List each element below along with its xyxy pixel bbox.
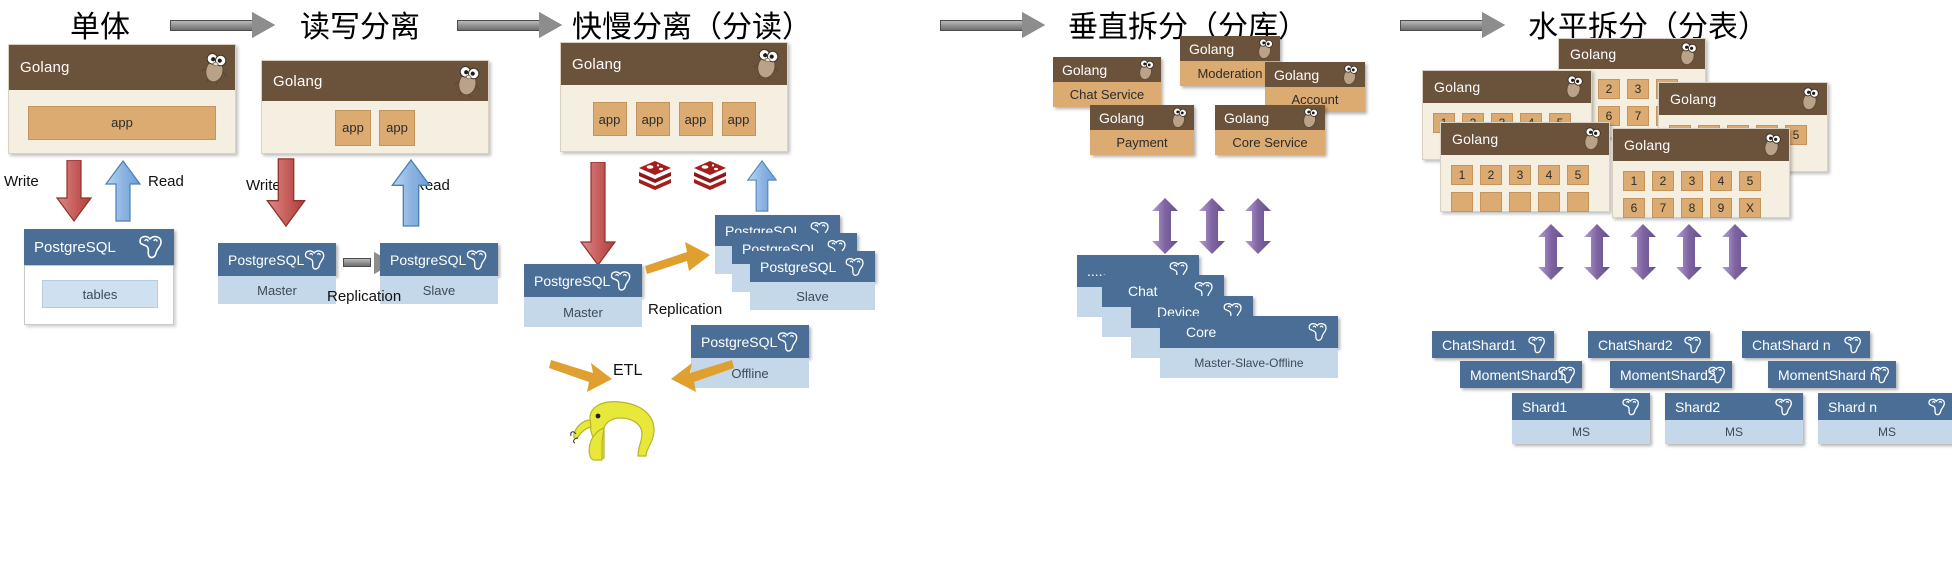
golang-label: Golang [9, 59, 70, 76]
postgres-label: PostgreSQL [218, 252, 304, 268]
postgres-elephant-icon [608, 269, 634, 292]
gopher-icon [199, 49, 231, 86]
shard-tile: X [1739, 198, 1761, 218]
write-arrow-fs [578, 162, 618, 266]
golang-card-header: Golang [1423, 71, 1591, 103]
gopher-icon [1254, 36, 1276, 61]
gopher-icon [452, 63, 484, 100]
postgres-card-monolith: PostgreSQL [24, 229, 174, 265]
vertical-double-arrow [1674, 224, 1704, 280]
write-arrow-monolith [54, 160, 94, 222]
shard-tile: 1 [1451, 165, 1473, 185]
read-label-monolith: Read [148, 173, 184, 190]
arrow-shaft [170, 20, 253, 31]
golang-card-header: Golang [262, 61, 488, 101]
service-card-header: Golang [1090, 105, 1194, 130]
shard-tile: 8 [1681, 198, 1703, 218]
postgres-elephant-icon [775, 330, 801, 353]
vertical-double-arrow [1582, 224, 1612, 280]
shard-card-momentshard-n: MomentShard n [1768, 361, 1896, 388]
hadoop-elephant-icon [568, 390, 664, 470]
golang-label: Golang [1559, 46, 1616, 62]
postgres-elephant-icon [136, 234, 166, 260]
shard-tile: 7 [1627, 106, 1649, 126]
golang-label: Golang [1224, 110, 1269, 126]
shard-title: Shard2 [1675, 399, 1720, 415]
postgres-elephant-icon [1620, 397, 1642, 416]
gopher-icon [1168, 105, 1190, 130]
db-label: Core [1160, 324, 1216, 340]
golang-label: Golang [1274, 67, 1319, 83]
shard-card-header: Shard2 [1665, 393, 1803, 420]
vertical-double-arrow [1243, 198, 1273, 254]
postgres-elephant-icon [302, 248, 328, 271]
app-tile: app [379, 110, 415, 146]
db-footer-label: Master-Slave-Offline [1160, 348, 1338, 378]
service-card-core: Golang Core Service [1215, 105, 1325, 155]
postgres-label: PostgreSQL [380, 252, 466, 268]
golang-app-card-fs: Golang app app app app [560, 42, 788, 152]
postgres-card-header: PostgreSQL [691, 325, 809, 358]
shard-tile: 4 [1710, 171, 1732, 191]
shard-tile: 1 [1623, 171, 1645, 191]
arrow-head [1022, 12, 1045, 38]
app-tile: app [722, 102, 756, 136]
postgres-card-header: PostgreSQL [24, 229, 174, 265]
replication-arrow-fs [645, 240, 711, 276]
golang-label: Golang [561, 56, 622, 73]
postgres-label: PostgreSQL [24, 239, 116, 256]
golang-app-card-monolith: Golang app [8, 44, 236, 154]
service-card-chat: Golang Chat Service [1053, 57, 1161, 107]
shard-card-header: MomentShard1 [1460, 361, 1582, 388]
tables-tile: tables [42, 280, 158, 308]
shard-tile: 4 [1538, 165, 1560, 185]
shard-tile: 5 [1567, 165, 1589, 185]
golang-card-body: app [9, 90, 235, 155]
postgres-elephant-icon [1773, 397, 1795, 416]
golang-card-header: Golang [1659, 83, 1827, 115]
shard-card-header: ChatShard n [1742, 331, 1870, 358]
shard-title: Shard1 [1522, 399, 1567, 415]
golang-label: Golang [262, 73, 323, 90]
arrow-head [1482, 12, 1505, 38]
postgres-label: PostgreSQL [691, 334, 777, 350]
golang-card-header: Golang [1559, 39, 1705, 69]
arrow-head [539, 12, 562, 38]
shard-footer: MS [1818, 420, 1952, 444]
shard-tile: 2 [1598, 79, 1620, 99]
gopher-icon [1580, 125, 1605, 154]
shard-tile: 5 [1739, 171, 1761, 191]
postgres-role-label: Slave [750, 282, 875, 310]
gopher-icon [1339, 62, 1361, 87]
postgres-offline-card-fs: PostgreSQL Offline [691, 325, 809, 358]
golang-label: Golang [1441, 131, 1498, 147]
architecture-evolution-diagram: 单体 读写分离 快慢分离（分读） 垂直拆分（分库） 水平拆分（分表） Golan… [0, 0, 1952, 562]
column-title-fast-slow-split: 快慢分离（分读） [572, 2, 812, 46]
postgres-card-header: PostgreSQL [218, 243, 336, 276]
gopher-icon [1760, 131, 1785, 160]
arrow-shaft [343, 258, 371, 267]
shard-card-chatshard-n: ChatShard n [1742, 331, 1870, 358]
golang-card-header: Golang [1613, 129, 1789, 161]
postgres-elephant-icon [464, 248, 490, 271]
app-tile: app [593, 102, 627, 136]
read-arrow-monolith [103, 160, 143, 222]
column-title-read-write-split: 读写分离 [300, 2, 420, 46]
shard-title: ChatShard n [1752, 337, 1831, 353]
golang-card-body: app app [262, 101, 488, 154]
read-arrow-rw [389, 158, 433, 228]
postgres-label: PostgreSQL [524, 273, 610, 289]
shard-tile: 2 [1480, 165, 1502, 185]
service-name: Chat Service [1053, 82, 1161, 107]
vertical-double-arrow [1197, 198, 1227, 254]
postgres-card-header: Core [1160, 316, 1338, 348]
shard-tile [1538, 192, 1560, 212]
flow-arrow-1 [170, 12, 275, 38]
db-card-core: Core Master-Slave-Offline [1160, 316, 1338, 348]
shard-tile: 7 [1652, 198, 1674, 218]
shard-tile: 6 [1623, 198, 1645, 218]
flow-arrow-2 [457, 12, 562, 38]
shard-app-card-5: Golang 1 2 3 4 5 6 7 8 9 X [1612, 128, 1790, 218]
arrow-head [252, 12, 275, 38]
shard-tile [1480, 192, 1502, 212]
shard-card-shard2: Shard2 MS [1665, 393, 1803, 444]
golang-card-header: Golang [9, 45, 235, 90]
service-card-header: Golang [1180, 36, 1280, 61]
gopher-icon [1676, 40, 1701, 69]
shard-tile [1567, 192, 1589, 212]
golang-label: Golang [1189, 41, 1234, 57]
shard-tile-grid: 1 2 3 4 5 [1451, 165, 1601, 212]
postgres-elephant-icon [843, 256, 867, 277]
app-tile: app [636, 102, 670, 136]
arrow-shaft [1400, 20, 1483, 31]
postgres-card-header: PostgreSQL [750, 251, 875, 282]
postgres-elephant-icon [1842, 335, 1864, 354]
shard-card-momentshard2: MomentShard2 [1610, 361, 1732, 388]
shard-card-header: Shard1 [1512, 393, 1650, 420]
postgres-slave-card-rw: PostgreSQL Slave [380, 243, 498, 276]
golang-app-card-rw: Golang app app [261, 60, 489, 154]
etl-arrow-right [668, 360, 734, 400]
postgres-label: PostgreSQL [750, 259, 836, 275]
golang-card-header: Golang [1441, 123, 1609, 155]
shard-tile: 2 [1652, 171, 1674, 191]
vertical-double-arrow [1536, 224, 1566, 280]
postgres-elephant-icon [1682, 335, 1704, 354]
service-name: Payment [1090, 130, 1194, 155]
shard-title: MomentShard1 [1470, 367, 1566, 383]
service-card-header: Golang [1265, 62, 1365, 87]
shard-card-momentshard1: MomentShard1 [1460, 361, 1582, 388]
shard-card-header: MomentShard n [1768, 361, 1896, 388]
app-tile: app [28, 106, 216, 140]
postgres-elephant-icon [1306, 322, 1330, 343]
golang-label: Golang [1659, 91, 1716, 107]
app-tile: app [335, 110, 371, 146]
golang-label: Golang [1423, 79, 1480, 95]
postgres-elephant-icon [1870, 365, 1892, 384]
replication-label-rw: Replication [327, 288, 401, 305]
golang-label: Golang [1099, 110, 1144, 126]
shard-app-card-3: Golang 1 2 3 4 5 [1440, 122, 1610, 212]
etl-label: ETL [613, 362, 642, 380]
shard-card-shard1: Shard1 MS [1512, 393, 1650, 444]
postgres-card-header: PostgreSQL [524, 264, 642, 297]
shard-title: ChatShard1 [1442, 337, 1517, 353]
shard-card-header: ChatShard2 [1588, 331, 1710, 358]
gopher-icon [1135, 57, 1157, 82]
postgres-elephant-icon [1526, 335, 1548, 354]
vertical-double-arrow [1720, 224, 1750, 280]
shard-title: Shard n [1828, 399, 1877, 415]
golang-label: Golang [1613, 137, 1670, 153]
shard-card-chatshard2: ChatShard2 [1588, 331, 1710, 358]
postgres-master-card-rw: PostgreSQL Master [218, 243, 336, 276]
golang-card-body: app app app app [561, 85, 787, 153]
shard-card-header: MomentShard2 [1610, 361, 1732, 388]
postgres-card-body-monolith: tables [24, 265, 174, 325]
arrow-shaft [457, 20, 540, 31]
postgres-elephant-icon [1556, 365, 1578, 384]
shard-title: MomentShard2 [1620, 367, 1716, 383]
flow-arrow-3 [940, 12, 1045, 38]
shard-card-header: Shard n [1818, 393, 1952, 420]
redis-icon [638, 160, 672, 190]
shard-card-header: ChatShard1 [1432, 331, 1554, 358]
service-card-header: Golang [1215, 105, 1325, 130]
gopher-icon [1798, 85, 1823, 114]
write-arrow-rw [264, 158, 308, 228]
flow-arrow-4 [1400, 12, 1505, 38]
postgres-elephant-icon [1706, 365, 1728, 384]
arrow-shaft [940, 20, 1023, 31]
shard-tile: 3 [1509, 165, 1531, 185]
write-label-monolith: Write [4, 173, 39, 190]
shard-tile [1451, 192, 1473, 212]
postgres-elephant-icon [1926, 397, 1948, 416]
gopher-icon [751, 46, 783, 83]
postgres-slave-card-stack-1: PostgreSQL Slave [750, 251, 875, 282]
shard-card-shard-n: Shard n MS [1818, 393, 1952, 444]
golang-label: Golang [1062, 62, 1107, 78]
column-title-monolith: 单体 [70, 2, 130, 46]
shard-tile [1509, 192, 1531, 212]
vertical-double-arrow [1150, 198, 1180, 254]
shard-tile: 3 [1681, 171, 1703, 191]
service-name: Core Service [1215, 130, 1325, 155]
shard-title: ChatShard2 [1598, 337, 1673, 353]
postgres-card-header: PostgreSQL [380, 243, 498, 276]
replication-label-fs: Replication [648, 301, 722, 318]
shard-title: MomentShard n [1778, 367, 1878, 383]
postgres-role-label: Master [524, 297, 642, 327]
service-card-header: Golang [1053, 57, 1161, 82]
postgres-role-label: Master [218, 276, 336, 304]
gopher-icon [1299, 105, 1321, 130]
vertical-double-arrow [1628, 224, 1658, 280]
shard-card-chatshard1: ChatShard1 [1432, 331, 1554, 358]
shard-footer: MS [1665, 420, 1803, 444]
golang-card-header: Golang [561, 43, 787, 85]
shard-tile-grid: 1 2 3 4 5 6 7 8 9 X [1623, 171, 1781, 218]
shard-tile: 3 [1627, 79, 1649, 99]
shard-footer: MS [1512, 420, 1650, 444]
gopher-icon [1562, 73, 1587, 102]
read-arrow-fs [742, 160, 782, 212]
service-card-payment: Golang Payment [1090, 105, 1194, 155]
shard-tile: 9 [1710, 198, 1732, 218]
redis-icon [693, 160, 727, 190]
postgres-master-card-fs: PostgreSQL Master [524, 264, 642, 297]
app-tile: app [679, 102, 713, 136]
